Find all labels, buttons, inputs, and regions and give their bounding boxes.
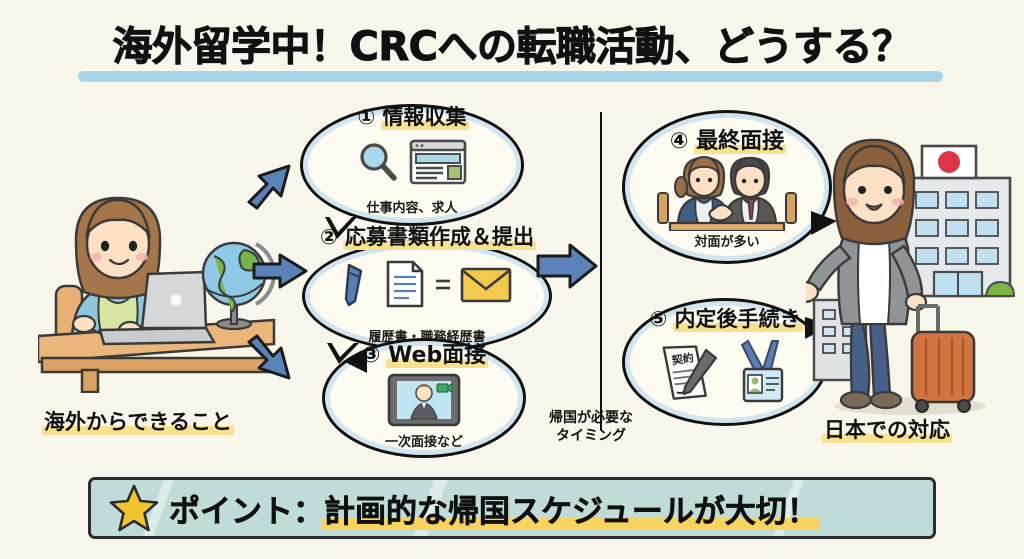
step-4-subtitle: 対面が多い [625,231,829,250]
banner-text: ポイント：計画的な帰国スケジュールが大切！ [169,486,818,531]
step-bubble-1[interactable]: ① 情報収集 仕事内容、求人 [300,104,524,226]
step-2-title: 応募書類作成＆提出 [345,221,534,251]
middle-caption: 帰国が必要な タイミング [516,410,666,445]
step-3-bubble-tail [343,351,367,373]
arrow-to-step-2 [250,252,310,290]
banner-text-plain: ポイント： [169,494,324,530]
step-bubble-2[interactable]: ② 応募書類作成＆提出 [302,240,552,352]
star-icon [109,483,159,533]
arrow-to-japan-section [534,242,600,290]
contract-document-icon: 契約 [658,340,720,406]
step-1-title: 情報収集 [383,101,467,131]
id-badge-icon [734,339,792,407]
step-2-icons [305,259,549,309]
arrow-to-step-3 [243,330,305,386]
step-4-heading: ④ 最終面接 [625,123,829,155]
magnifier-icon [357,141,399,183]
step-4-title: 最終面接 [696,123,784,155]
page-title-wrapper: 海外留学中！CRCへの転職活動、どうする？ [0,14,1024,72]
step-1-heading: ① 情報収集 [303,101,521,131]
left-section-caption-text: 海外からできること [44,406,232,436]
step-5-heading: ⑤ 内定後手続き [625,303,825,333]
section-divider-bottom [600,268,602,430]
handshake-interview-icon [652,155,802,231]
step-1-number: ① [357,105,375,129]
step-1-subtitle: 仕事内容、求人 [303,197,521,216]
document-icon [383,259,427,309]
banner-text-highlight: 計画的な帰国スケジュールが大切！ [324,486,818,531]
step-bubble-5[interactable]: ⑤ 内定後手続き 契約 [622,298,828,426]
point-banner[interactable]: ポイント：計画的な帰国スケジュールが大切！ [88,477,936,539]
pen-icon [341,261,377,307]
tablet-video-call-icon [387,373,461,427]
envelope-icon [459,264,513,304]
left-section-caption: 海外からできること [44,406,232,436]
step-1-icons [303,139,521,185]
arrow-to-step-1 [243,158,305,214]
step-2-heading: ② 応募書類作成＆提出 [305,221,549,251]
woman-with-suitcase-illustration [806,132,1024,424]
step-4-icons [625,155,829,231]
step-bubble-3[interactable]: ③ Web面接 一次面接など [322,338,526,458]
step-3-icons [325,373,523,427]
step-4-number: ④ [670,129,689,154]
step-2-number: ② [320,225,338,249]
step-bubble-4[interactable]: ④ 最終面接 [622,110,832,264]
right-section-caption: 日本での対応 [824,414,950,444]
equals-icon [433,272,453,296]
step-5-number: ⑤ [649,307,667,331]
middle-caption-line-2: タイミング [516,428,666,446]
right-section-caption-text: 日本での対応 [824,414,950,444]
step-3-subtitle: 一次面接など [325,431,523,450]
step-3-title: Web面接 [388,337,486,369]
section-divider-top [600,112,602,272]
browser-window-icon [409,139,467,185]
middle-caption-line-1: 帰国が必要な [516,410,666,428]
page-title: 海外留学中！CRCへの転職活動、どうする？ [106,14,917,72]
step-5-title: 内定後手続き [675,303,801,333]
infographic-canvas: 海外留学中！CRCへの転職活動、どうする？ [0,0,1024,559]
title-underline [78,71,943,82]
step-5-icons: 契約 [625,339,825,407]
